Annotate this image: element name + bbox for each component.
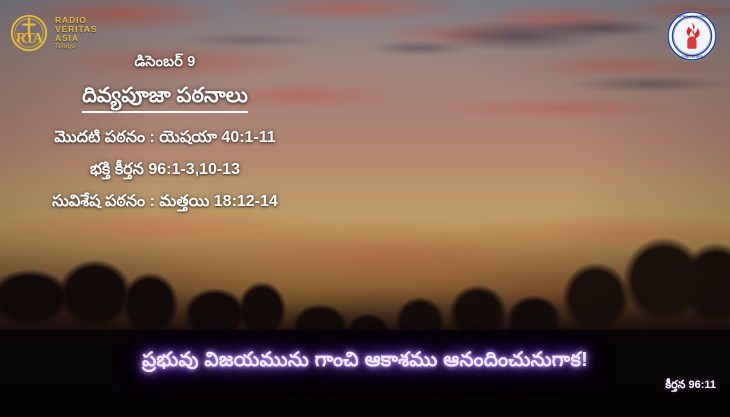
verse-reference: కీర్తన 96:11 (665, 379, 716, 394)
verse-banner-text: ప్రభువు విజయమును గాంచి ఆకాశము ఆనందించును… (0, 348, 730, 372)
rva-language: Telugu (55, 44, 98, 50)
bottom-dark-band (0, 330, 730, 417)
reading-first: మొదటి పఠనం : యెషయా 40:1-11 (0, 128, 330, 149)
readings-list: మొదటి పఠనం : యెషయా 40:1-11 భక్తి కీర్తన … (0, 128, 330, 212)
rva-line-asia: ASIA (55, 34, 98, 43)
date-label: డిసెంబర్ 9 (0, 54, 330, 74)
rva-logo: RTA RADIO VERITAS ASIA Telugu (10, 14, 98, 52)
reading-psalm: భక్తి కీర్తన 96:1-3,10-13 (0, 160, 330, 181)
rva-monogram-icon: RTA (10, 14, 48, 52)
svg-text:CATHOLIC BISHOPS: CATHOLIC BISHOPS (677, 15, 708, 19)
liturgy-readings-poster: RTA RADIO VERITAS ASIA Telugu CATHOLIC B… (0, 0, 730, 417)
secondary-circular-logo-icon: CATHOLIC BISHOPS CONFERENCE (666, 10, 718, 62)
svg-text:CONFERENCE: CONFERENCE (681, 55, 703, 59)
readings-text-block: డిసెంబర్ 9 దివ్యపూజా పఠనాలు మొదటి పఠనం :… (0, 54, 330, 224)
reading-gospel: సువిశేష పఠనం : మత్తయి 18:12-14 (0, 192, 330, 213)
rva-wordmark: RADIO VERITAS ASIA Telugu (55, 16, 98, 50)
svg-text:RTA: RTA (16, 31, 44, 47)
page-title: దివ్యపూజా పఠనాలు (82, 83, 248, 113)
